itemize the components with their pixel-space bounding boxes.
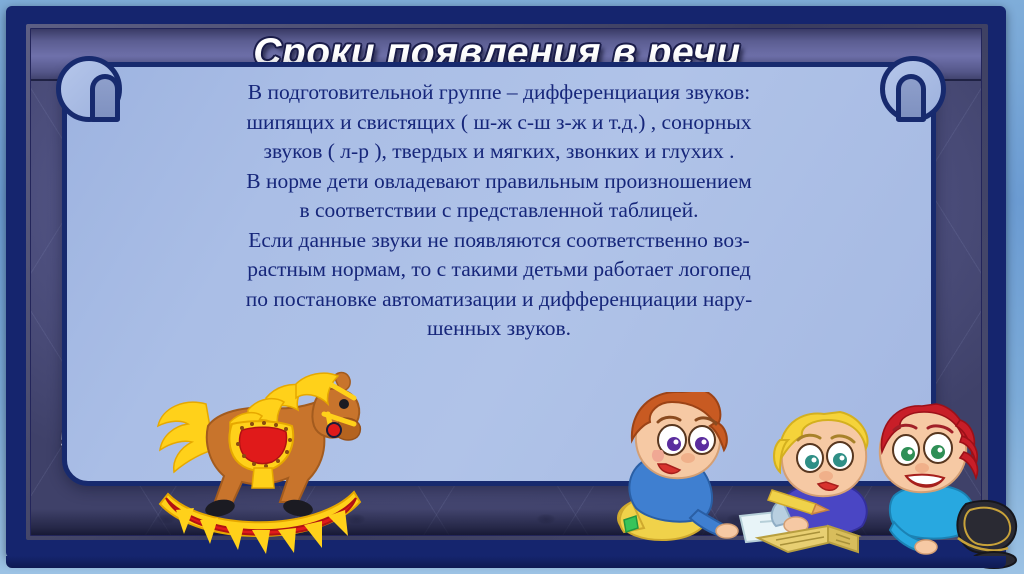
child-red-hair — [880, 404, 1016, 568]
scroll-body-text: В подготовительной группе – дифференциац… — [72, 78, 926, 344]
rocking-horse-icon — [148, 368, 378, 568]
scroll-curl-right-roll-icon — [896, 74, 926, 122]
scroll-line: шенных звуков. — [72, 314, 926, 344]
scroll-line: Если данные звуки не появляются соответс… — [72, 226, 926, 256]
children-reading-icon — [610, 392, 1020, 574]
scroll-line: В подготовительной группе – дифференциац… — [72, 78, 926, 108]
scroll-line: шипящих и свистящих ( ш-ж с-ш з-ж и т.д.… — [72, 108, 926, 138]
scroll-line: по постановке автоматизации и дифференци… — [72, 285, 926, 315]
scroll-line: В норме дети овладевают правильным произ… — [72, 167, 926, 197]
rocking-horse-illustration — [148, 368, 378, 568]
scroll-curl-left-roll-icon — [90, 74, 120, 122]
scroll-line: в соответствии с представленной таблицей… — [72, 196, 926, 226]
children-illustration — [610, 392, 1020, 574]
scroll-line: звуков ( л-р ), твердых и мягких, звонки… — [72, 137, 926, 167]
slide-bottom-edge — [6, 556, 1006, 568]
presentation-slide: 5-летними (!) усваивают звуки Сроки появ… — [0, 0, 1024, 574]
scroll-line: растным нормам, то с такими детьми работ… — [72, 255, 926, 285]
